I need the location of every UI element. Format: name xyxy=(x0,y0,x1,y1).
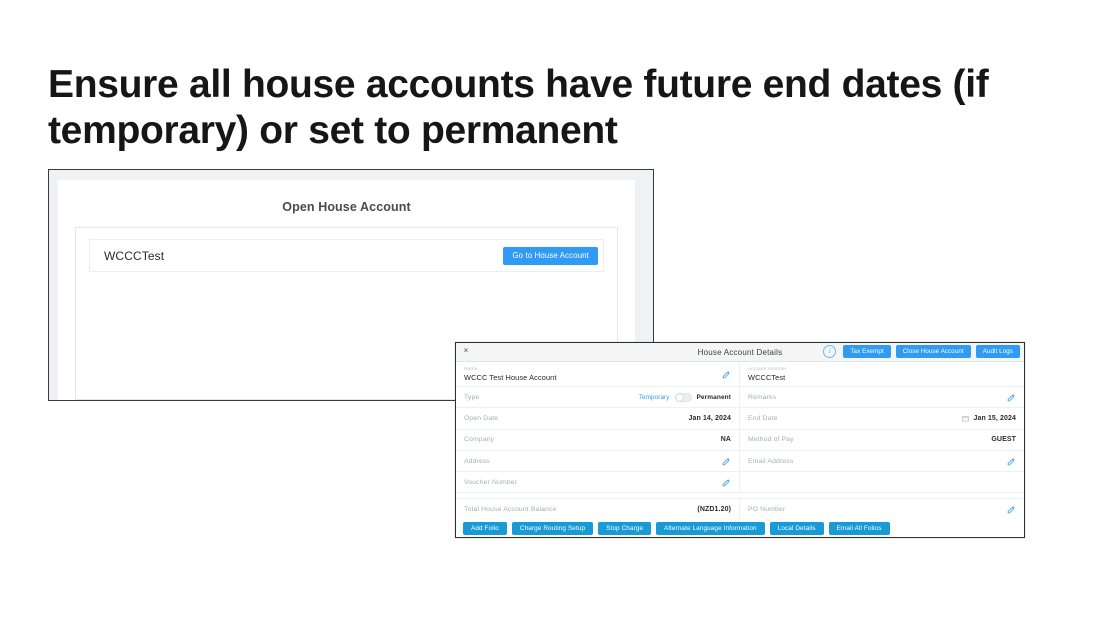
panel-heading: Open House Account xyxy=(58,200,635,214)
form-row: Type Temporary Permanent Remarks xyxy=(456,387,1024,408)
field-email-address[interactable]: Email Address xyxy=(740,451,1024,471)
field-total-balance-value: (NZD1.20) xyxy=(697,506,731,513)
field-email-address-label: Email Address xyxy=(748,458,793,465)
edit-icon[interactable] xyxy=(722,457,731,466)
field-po-number-label: PO Number xyxy=(748,506,785,513)
dialog-titlebar-actions: i Tax Exempt Close House Account Audit L… xyxy=(823,345,1020,358)
field-remarks-label: Remarks xyxy=(748,394,776,401)
field-account-number-stack: Account Number WCCCTest xyxy=(748,367,787,382)
field-end-date-value: Jan 15, 2024 xyxy=(974,415,1016,422)
local-details-button[interactable]: Local Details xyxy=(770,522,824,535)
field-method-of-pay[interactable]: Method of Pay GUEST xyxy=(740,430,1024,450)
go-to-house-account-button[interactable]: Go to House Account xyxy=(503,247,598,265)
field-account-number[interactable]: Account Number WCCCTest xyxy=(740,362,1024,386)
field-type-label: Type xyxy=(464,394,479,401)
account-list-item[interactable]: WCCCTest Go to House Account xyxy=(89,239,604,272)
stop-charge-button[interactable]: Stop Charge xyxy=(598,522,651,535)
add-folio-button[interactable]: Add Folio xyxy=(463,522,507,535)
edit-icon[interactable] xyxy=(722,478,731,487)
field-end-date[interactable]: End Date Jan 15, 2024 xyxy=(740,408,1024,428)
house-account-details-dialog: × House Account Details i Tax Exempt Clo… xyxy=(455,342,1025,538)
dialog-footer: Add Folio Charge Routing Setup Stop Char… xyxy=(456,520,1024,537)
field-company-label: Company xyxy=(464,436,494,443)
form-row: Open Date Jan 14, 2024 End Date Jan 15, … xyxy=(456,408,1024,429)
edit-icon[interactable] xyxy=(722,370,731,379)
type-toggle-group[interactable]: Temporary Permanent xyxy=(639,393,731,402)
field-account-number-value: WCCCTest xyxy=(748,373,785,382)
page-title: Ensure all house accounts have future en… xyxy=(48,62,1068,154)
calendar-icon[interactable] xyxy=(962,415,969,422)
toggle-knob xyxy=(676,394,683,401)
form-row: Address Email Address xyxy=(456,451,1024,472)
field-po-number[interactable]: PO Number xyxy=(740,499,1024,519)
charge-routing-setup-button[interactable]: Charge Routing Setup xyxy=(512,522,593,535)
type-toggle-switch[interactable] xyxy=(675,393,692,402)
field-address-label: Address xyxy=(464,458,490,465)
edit-icon[interactable] xyxy=(1007,393,1016,402)
field-type[interactable]: Type Temporary Permanent xyxy=(456,387,740,407)
field-open-date-value: Jan 14, 2024 xyxy=(689,415,731,422)
audit-logs-button[interactable]: Audit Logs xyxy=(976,345,1020,358)
field-company-value: NA xyxy=(721,436,731,443)
type-temporary-label: Temporary xyxy=(639,394,670,401)
field-open-date-label: Open Date xyxy=(464,415,498,422)
alternate-language-information-button[interactable]: Alternate Language Information xyxy=(656,522,765,535)
field-empty xyxy=(740,472,1024,492)
field-name-value: WCCC Test House Account xyxy=(464,373,557,382)
field-name-stack: Name WCCC Test House Account xyxy=(464,367,557,382)
house-account-form: Name WCCC Test House Account Account Num… xyxy=(456,362,1024,514)
field-method-of-pay-label: Method of Pay xyxy=(748,436,794,443)
info-icon[interactable]: i xyxy=(823,345,836,358)
field-address[interactable]: Address xyxy=(456,451,740,471)
field-remarks[interactable]: Remarks xyxy=(740,387,1024,407)
end-date-right-group: Jan 15, 2024 xyxy=(962,415,1016,422)
field-name[interactable]: Name WCCC Test House Account xyxy=(456,362,740,386)
field-total-balance: Total House Account Balance (NZD1.20) xyxy=(456,499,740,519)
close-house-account-button[interactable]: Close House Account xyxy=(896,345,971,358)
field-method-of-pay-value: GUEST xyxy=(991,436,1016,443)
type-permanent-label: Permanent xyxy=(697,394,732,401)
field-voucher-number-label: Voucher Number xyxy=(464,479,517,486)
form-row: Name WCCC Test House Account Account Num… xyxy=(456,362,1024,387)
account-name-text: WCCCTest xyxy=(104,249,164,263)
edit-icon[interactable] xyxy=(1007,457,1016,466)
email-all-folios-button[interactable]: Email All Folios xyxy=(829,522,890,535)
edit-icon[interactable] xyxy=(1007,505,1016,514)
field-open-date[interactable]: Open Date Jan 14, 2024 xyxy=(456,408,740,428)
form-row: Company NA Method of Pay GUEST xyxy=(456,430,1024,451)
field-voucher-number[interactable]: Voucher Number xyxy=(456,472,740,492)
dialog-titlebar: × House Account Details i Tax Exempt Clo… xyxy=(456,343,1024,362)
tax-exempt-button[interactable]: Tax Exempt xyxy=(843,345,890,358)
form-row: Voucher Number xyxy=(456,472,1024,493)
form-row: Total House Account Balance (NZD1.20) PO… xyxy=(456,499,1024,520)
field-total-balance-label: Total House Account Balance xyxy=(464,506,556,513)
field-company[interactable]: Company NA xyxy=(456,430,740,450)
field-end-date-label: End Date xyxy=(748,415,778,422)
